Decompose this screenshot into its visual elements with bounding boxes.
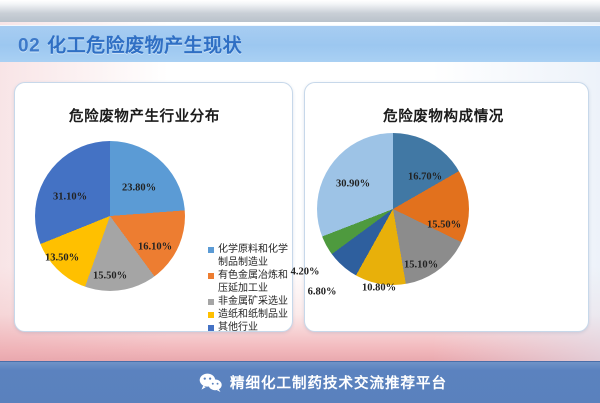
legend-swatch-icon [208,273,214,279]
left-chart-title: 危险废物产生行业分布 [15,105,292,126]
left-pie-body [35,141,185,291]
chart-card-right: 危险废物构成情况 16.70% 15.50% 15.10% 10.80% 6.8… [304,82,589,332]
section-number: 02 [18,35,40,56]
legend-swatch-icon [208,247,214,253]
legend-item[interactable]: 造纸和纸制品业 [208,308,290,321]
left-chart-legend: 化学原料和化学制品制造业 有色金属冶炼和压延加工业 非金属矿采选业 造纸和纸制品… [208,243,290,334]
top-gray-strip [0,0,600,22]
right-slice-label-1: 16.70% [408,172,442,183]
left-slice-label-1: 23.80% [122,183,156,194]
legend-item-label: 化学原料和化学制品制造业 [218,243,290,269]
right-slice-label-2: 15.50% [427,220,461,231]
right-slice-label-6: 4.20% [291,267,320,278]
chart-card-left: 危险废物产生行业分布 23.80% 16.10% 15.50% 13.50% 3… [14,82,293,332]
legend-item[interactable]: 非金属矿采选业 [208,295,290,308]
right-pie-chart: 16.70% 15.50% 15.10% 10.80% 6.80% 4.20% … [317,133,469,285]
left-slice-label-3: 15.50% [93,271,127,282]
right-slice-label-4: 10.80% [362,283,396,294]
section-title: 02化工危险废物产生现状 [18,30,242,57]
left-slice-label-5: 31.10% [53,192,87,203]
legend-item-label: 有色金属冶炼和压延加工业 [218,269,290,295]
left-slice-label-4: 13.50% [45,253,79,264]
legend-item[interactable]: 有色金属冶炼和压延加工业 [208,269,290,295]
legend-item[interactable]: 化学原料和化学制品制造业 [208,243,290,269]
right-slice-label-5: 6.80% [308,287,337,298]
footer-label: 精细化工制药技术交流推荐平台 [230,372,447,393]
legend-item-label: 造纸和纸制品业 [218,308,288,321]
section-header-band: 02化工危险废物产生现状 [0,25,600,62]
section-title-text: 化工危险废物产生现状 [47,35,242,56]
legend-item[interactable]: 其他行业 [208,321,290,334]
legend-item-label: 非金属矿采选业 [218,295,288,308]
legend-swatch-icon [208,312,214,318]
right-chart-title: 危险废物构成情况 [305,105,588,126]
legend-item-label: 其他行业 [218,321,258,334]
footer-content: 精细化工制药技术交流推荐平台 [0,362,600,403]
slide-root: 02化工危险废物产生现状 危险废物产生行业分布 23.80% 16.10% 15… [0,0,600,403]
wechat-icon [199,373,223,392]
right-pie-body [317,133,469,285]
legend-swatch-icon [208,299,214,305]
left-pie-chart: 23.80% 16.10% 15.50% 13.50% 31.10% [35,141,185,291]
legend-swatch-icon [208,325,214,331]
left-slice-label-2: 16.10% [138,242,172,253]
right-slice-label-7: 30.90% [336,179,370,190]
footer-bar: 精细化工制药技术交流推荐平台 [0,361,600,403]
right-slice-label-3: 15.10% [404,260,438,271]
